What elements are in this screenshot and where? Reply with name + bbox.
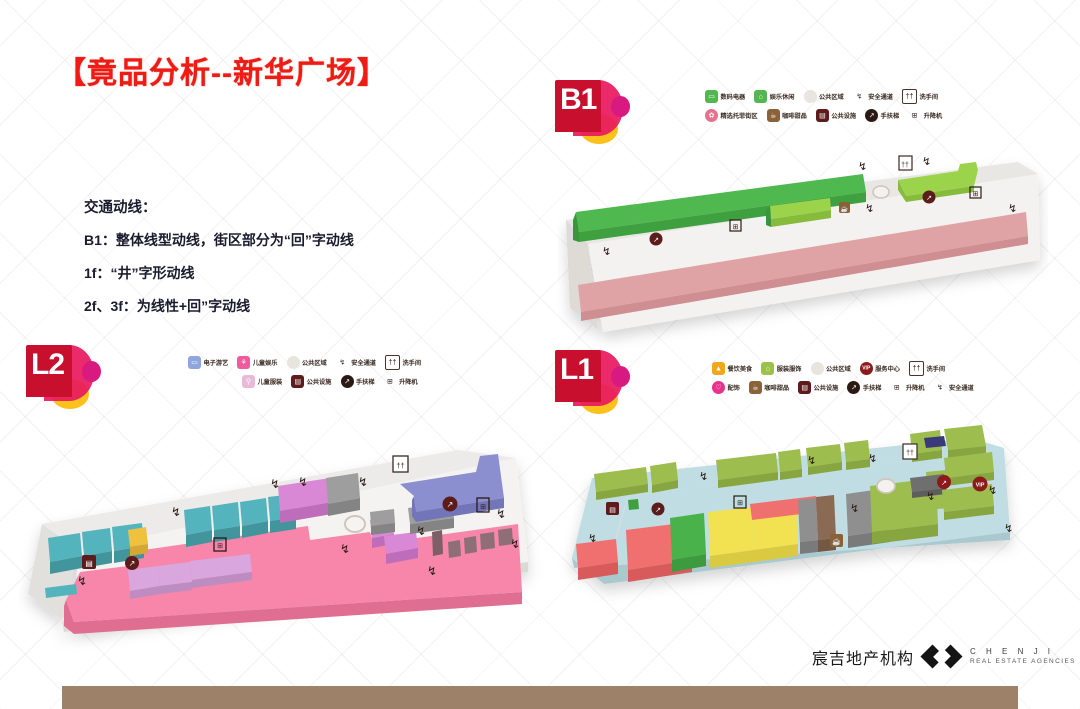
svg-text:↯: ↯ [171,505,181,519]
exit-icon: ↯ [853,90,866,103]
l1-green-marker [628,499,639,510]
svg-text:↯: ↯ [77,574,87,588]
facility-icon: ▤ [798,381,811,394]
badge-dot [611,96,630,117]
badge-dot [611,366,630,387]
svg-text:↗: ↗ [941,480,947,487]
svg-text:▤: ▤ [609,507,616,514]
legend-item: ▲ 餐饮美食 [712,362,752,375]
legend-label: 咖啡甜品 [764,383,789,392]
legend-item: ⊞ 升降机 [890,381,924,394]
legend-label: 精选托菲街区 [721,111,758,120]
svg-text:↯: ↯ [1004,523,1013,535]
legend-label: 洗手间 [403,358,422,367]
legend-label: 娱乐休闲 [770,92,795,101]
escalator-icon: ↗ [341,375,354,388]
legend-item: ↗ 手扶梯 [341,375,375,388]
bottom-accent-bar [62,686,1018,709]
traffic-line-b1: B1：整体线型动线，街区部分为“回”字动线 [84,230,484,250]
legend-item: 公共区域 [287,356,327,369]
legend-item: ↗ 手扶梯 [847,381,881,394]
legend-item: ↯ 安全通道 [853,90,893,103]
legend-label: 餐饮美食 [728,364,753,373]
arcade-icon: ▭ [188,356,201,369]
legend-label: 安全通道 [949,383,974,392]
legend-label: 洗手间 [920,92,939,101]
svg-text:↯: ↯ [922,156,931,168]
legend-item: ⚘ 儿童娱乐 [237,356,277,369]
legend-label: 服务中心 [875,364,900,373]
svg-text:⊞: ⊞ [737,500,743,507]
legend-label: 公共设施 [814,383,839,392]
legend-item: ♡ 配饰 [712,381,740,394]
accessory-icon: ♡ [712,381,725,394]
legend-row: ▭ 数码电器 ⌂ 娱乐休闲 公共区域 ↯ 安全通道 †† 洗手间 [705,87,951,106]
svg-text:▤: ▤ [85,559,93,568]
floor-map-b1: ↗ ⊞ ☕ †† ↗ ⊞ ↯ ↯ ↯ ↯ ↯ [558,140,1048,350]
svg-text:↯: ↯ [416,524,426,538]
vip-icon: VIP [860,362,873,375]
coffee-icon: ☕ [749,381,762,394]
kids-play-icon: ⚘ [237,356,250,369]
legend-label: 儿童娱乐 [253,358,278,367]
svg-text:↯: ↯ [496,507,506,521]
svg-text:††: †† [906,450,914,457]
l2-yellow-block [128,527,148,556]
legend-label: 洗手间 [927,364,946,373]
floor-badge-l2: L2 [22,343,118,417]
legend-label: 咖啡甜品 [782,111,807,120]
svg-text:↯: ↯ [807,455,816,467]
legend-item: ↗ 手扶梯 [865,109,899,122]
legend-item: ▭ 数码电器 [705,90,745,103]
facility-icon: ▤ [816,109,829,122]
svg-text:↯: ↯ [1008,203,1017,215]
svg-text:↯: ↯ [588,533,597,545]
legend-label: 安全通道 [868,92,893,101]
legend-item: VIP 服务中心 [860,362,900,375]
svg-text:⊞: ⊞ [480,504,486,511]
svg-text:↯: ↯ [926,491,935,503]
svg-text:↗: ↗ [447,500,454,509]
svg-text:↗: ↗ [653,237,659,244]
svg-text:↯: ↯ [427,564,437,578]
legend-item: ↯ 安全通道 [336,356,376,369]
legend-item: 公共区域 [811,362,851,375]
legend-label: 公共区域 [826,364,851,373]
legend-item: 公共区域 [804,90,844,103]
chenji-diamond-logo-icon [923,645,961,669]
svg-text:↯: ↯ [865,203,874,215]
legend-item: ⌂ 服装服饰 [761,362,801,375]
floor-label-l2: L2 [31,350,64,380]
public-area-icon [287,356,300,369]
company-name-cn: 宸吉地产机构 [812,645,914,669]
legend-row: ▲ 餐饮美食 ⌂ 服装服饰 公共区域 VIP 服务中心 †† 洗手间 [712,359,983,378]
legend-item: ⚲ 儿童服装 [242,375,282,388]
legend-label: 公共设施 [831,111,856,120]
badge-dot [82,361,101,382]
svg-text:↯: ↯ [699,471,708,483]
legend-label: 公共区域 [819,92,844,101]
restroom-icon: †† [909,361,924,376]
elevator-icon: ⊞ [384,375,397,388]
escalator-icon: ↗ [847,381,860,394]
coffee-icon: ☕ [767,109,780,122]
legend-label: 数码电器 [721,92,746,101]
svg-text:☕: ☕ [841,205,849,213]
floor-map-l2: ▤ ↗ ⊞ †† ↗ ⊞ ↯ ↯ ↯ ↯ ↯ ↯ ↯ ↯ ↯ ↯ [18,420,563,675]
floor-map-l1: ▤ ↗ ⊞ ↗ VIP †† ☕ ↯ ↯ ↯ ↯ ↯ ↯ ↯ ↯ [558,412,1048,612]
legend-label: 儿童服装 [258,377,283,386]
page-title: 【竟品分析--新华广场】 [56,48,388,92]
legend-item: ☕ 咖啡甜品 [767,109,807,122]
legend-row: ✿ 精选托菲街区 ☕ 咖啡甜品 ▤ 公共设施 ↗ 手扶梯 ⊞ 升降机 [705,106,951,125]
legend-label: 配饰 [728,383,740,392]
restroom-icon: †† [385,355,400,370]
traffic-heading: 交通动线： [84,196,484,217]
traffic-circulation-block: 交通动线： B1：整体线型动线，街区部分为“回”字动线 1f：“井”字形动线 2… [84,196,484,329]
brand-en-primary: C H E N J I [970,647,1076,658]
monitor-icon: ▭ [705,90,718,103]
floor-label-b1: B1 [560,85,596,115]
legend-label: 公共设施 [307,377,332,386]
svg-text:↯: ↯ [850,503,859,515]
food-icon: ▲ [712,362,725,375]
floor-badge-l1: L1 [551,348,647,422]
company-name-en: C H E N J I REAL ESTATE AGENCIES [970,647,1076,667]
svg-text:↯: ↯ [340,542,350,556]
legend-item: ⊞ 升降机 [908,109,942,122]
legend-item: ⊞ 升降机 [384,375,418,388]
pet-icon: ⌂ [754,90,767,103]
legend-row: ♡ 配饰 ☕ 咖啡甜品 ▤ 公共设施 ↗ 手扶梯 ⊞ 升降机 ↯ 安全通道 [712,378,983,397]
escalator-icon: ↗ [865,109,878,122]
legend-label: 升降机 [906,383,925,392]
legend-l2: ▭ 电子游艺 ⚘ 儿童娱乐 公共区域 ↯ 安全通道 †† 洗手间 ⚲ 儿童服装 … [188,353,430,391]
elevator-icon: ⊞ [890,381,903,394]
legend-item: ▤ 公共设施 [798,381,838,394]
elevator-icon: ⊞ [908,109,921,122]
legend-item: †† 洗手间 [909,361,945,376]
svg-text:↯: ↯ [270,477,280,491]
legend-label: 手扶梯 [356,377,375,386]
floor-label-l1: L1 [560,355,593,385]
legend-l1: ▲ 餐饮美食 ⌂ 服装服饰 公共区域 VIP 服务中心 †† 洗手间 ♡ 配饰 … [712,359,983,397]
legend-item: ▤ 公共设施 [816,109,856,122]
svg-text:↯: ↯ [858,161,867,173]
legend-label: 升降机 [924,111,943,120]
legend-b1: ▭ 数码电器 ⌂ 娱乐休闲 公共区域 ↯ 安全通道 †† 洗手间 ✿ 精选托菲街… [705,87,951,125]
legend-label: 安全通道 [351,358,376,367]
legend-label: 升降机 [399,377,418,386]
svg-text:††: †† [396,461,404,470]
legend-row: ▭ 电子游艺 ⚘ 儿童娱乐 公共区域 ↯ 安全通道 †† 洗手间 [188,353,430,372]
svg-text:↗: ↗ [926,195,932,202]
traffic-line-1f: 1f：“井”字形动线 [84,263,484,283]
exit-icon: ↯ [934,381,947,394]
svg-text:↯: ↯ [358,475,368,489]
legend-item: ▭ 电子游艺 [188,356,228,369]
traffic-line-2f3f: 2f、3f：为线性+回”字动线 [84,296,484,316]
svg-text:↗: ↗ [129,559,136,568]
svg-text:VIP: VIP [976,483,985,489]
exit-icon: ↯ [336,356,349,369]
svg-text:↯: ↯ [298,475,308,489]
kids-wear-icon: ⚲ [242,375,255,388]
svg-text:↯: ↯ [510,537,520,551]
legend-item: ⌂ 娱乐休闲 [754,90,794,103]
legend-label: 服装服饰 [777,364,802,373]
clothing-icon: ⌂ [761,362,774,375]
legend-item: †† 洗手间 [385,355,421,370]
legend-label: 公共区域 [302,358,327,367]
svg-text:↯: ↯ [988,485,997,497]
legend-label: 手扶梯 [881,111,900,120]
legend-item: †† 洗手间 [902,89,938,104]
legend-item: ▤ 公共设施 [291,375,331,388]
legend-label: 手扶梯 [863,383,882,392]
svg-text:⊞: ⊞ [973,191,979,198]
legend-item: ☕ 咖啡甜品 [749,381,789,394]
brand-en-secondary: REAL ESTATE AGENCIES [970,658,1076,667]
svg-text:☕: ☕ [832,537,841,546]
facility-icon: ▤ [291,375,304,388]
legend-item: ↯ 安全通道 [934,381,974,394]
restroom-icon: †† [902,89,917,104]
footer-branding: 宸吉地产机构 C H E N J I REAL ESTATE AGENCIES [812,645,1076,669]
svg-text:⊞: ⊞ [217,543,223,550]
svg-text:↯: ↯ [602,246,611,258]
legend-item: ✿ 精选托菲街区 [705,109,758,122]
svg-text:↗: ↗ [655,507,661,514]
public-area-icon [811,362,824,375]
svg-text:††: †† [901,162,909,169]
street-block-icon: ✿ [705,109,718,122]
legend-row: ⚲ 儿童服装 ▤ 公共设施 ↗ 手扶梯 ⊞ 升降机 [188,372,430,391]
public-area-icon [804,90,817,103]
svg-text:↯: ↯ [868,453,877,465]
svg-text:⊞: ⊞ [733,224,739,231]
legend-label: 电子游艺 [204,358,229,367]
